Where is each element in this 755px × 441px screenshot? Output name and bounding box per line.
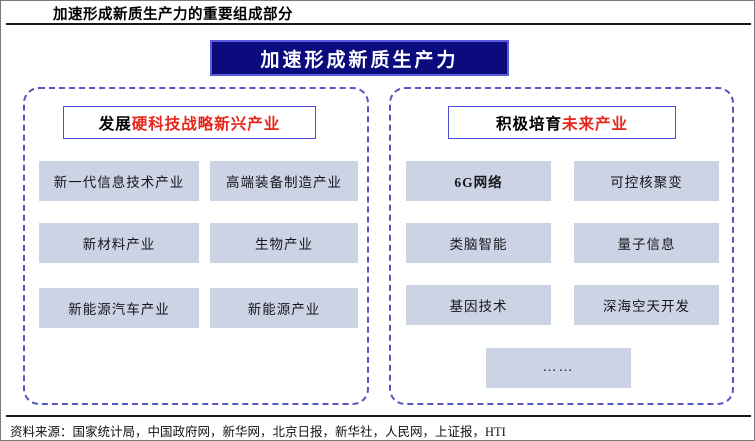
title-divider — [6, 23, 751, 25]
industry-chip: 量子信息 — [574, 223, 719, 263]
industry-chip-label: 可控核聚变 — [610, 171, 683, 191]
industry-chip-label: 新一代信息技术产业 — [54, 171, 185, 191]
panel-left-heading-accent: 硬科技战略新兴产业 — [132, 112, 281, 134]
industry-chip: 新材料产业 — [39, 223, 199, 263]
industry-chip-label: 高端装备制造产业 — [226, 171, 342, 191]
industry-chip-label: …… — [543, 360, 575, 376]
panel-right-heading-accent: 未来产业 — [562, 112, 628, 134]
industry-chip-label: 类脑智能 — [450, 233, 508, 253]
industry-chip: 深海空天开发 — [574, 285, 719, 325]
page-title: 加速形成新质生产力的重要组成部分 — [53, 3, 293, 24]
industry-chip-label: 新能源产业 — [248, 298, 321, 318]
source-note: 资料来源：国家统计局，中国政府网，新华网，北京日报，新华社，人民网，上证报，HT… — [10, 421, 506, 440]
industry-chip-label: 新材料产业 — [83, 233, 156, 253]
industry-chip: 生物产业 — [210, 223, 358, 263]
industry-chip-label: 生物产业 — [255, 233, 313, 253]
slide-root: 加速形成新质生产力的重要组成部分 加速形成新质生产力 发展 硬科技战略新兴产业 … — [0, 0, 755, 441]
industry-chip: 可控核聚变 — [574, 161, 719, 201]
footer-divider — [6, 415, 751, 417]
panel-left-heading-prefix: 发展 — [99, 112, 132, 134]
panel-right-heading-prefix: 积极培育 — [496, 112, 562, 134]
industry-chip-ellipsis: …… — [486, 348, 631, 388]
industry-chip-label: 6G网络 — [454, 171, 502, 191]
panel-left-heading: 发展 硬科技战略新兴产业 — [63, 106, 316, 139]
industry-chip: 高端装备制造产业 — [210, 161, 358, 201]
industry-chip: 新能源产业 — [210, 288, 358, 328]
industry-chip-label: 量子信息 — [618, 233, 676, 253]
main-banner: 加速形成新质生产力 — [210, 40, 509, 76]
main-banner-label: 加速形成新质生产力 — [260, 45, 458, 72]
industry-chip-label: 新能源汽车产业 — [68, 298, 170, 318]
panel-right-heading: 积极培育 未来产业 — [448, 106, 676, 139]
industry-chip-label: 基因技术 — [450, 295, 508, 315]
industry-chip: 类脑智能 — [406, 223, 551, 263]
industry-chip: 基因技术 — [406, 285, 551, 325]
industry-chip: 新能源汽车产业 — [39, 288, 199, 328]
industry-chip: 新一代信息技术产业 — [39, 161, 199, 201]
industry-chip: 6G网络 — [406, 161, 551, 201]
industry-chip-label: 深海空天开发 — [603, 295, 690, 315]
